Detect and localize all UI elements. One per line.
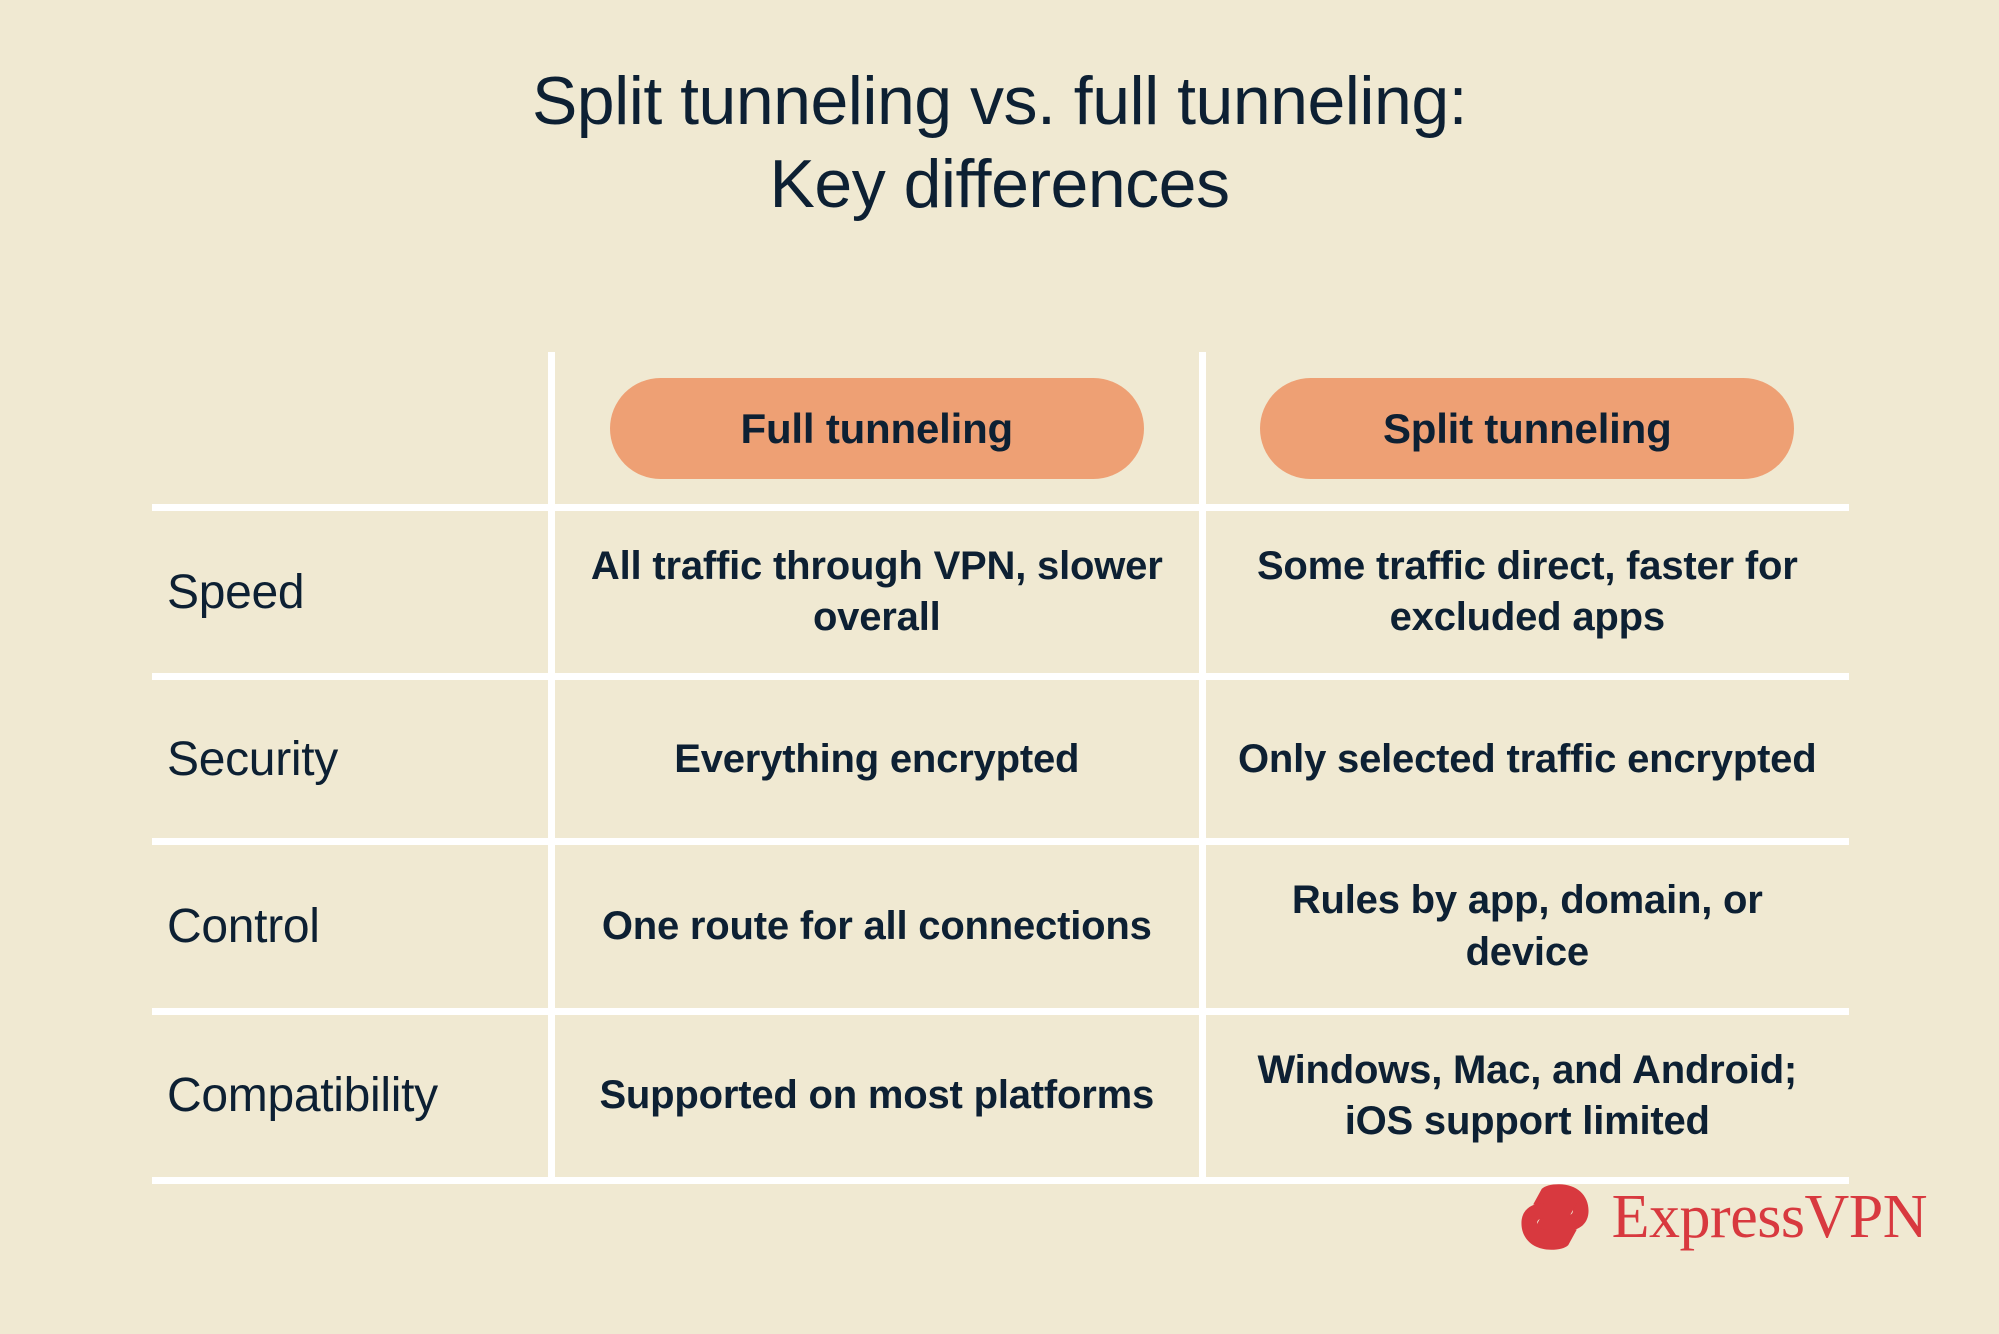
cell-text-speed-full: All traffic through VPN, slower overall: [577, 541, 1177, 643]
cell-text-control-full: One route for all connections: [602, 901, 1152, 952]
cell-control-split: Rules by app, domain, or device: [1199, 845, 1850, 1007]
header-cell-full-tunneling: Full tunneling: [548, 352, 1199, 504]
row-label-compatibility: Compatibility: [167, 1068, 438, 1123]
table-row-speed: Speed All traffic through VPN, slower ov…: [152, 504, 1849, 673]
expressvpn-e-mark-icon: [1516, 1178, 1594, 1256]
row-label-cell-compatibility: Compatibility: [152, 1015, 548, 1177]
row-label-speed: Speed: [167, 565, 304, 620]
row-label-security: Security: [167, 732, 338, 787]
comparison-table: Full tunneling Split tunneling Speed All…: [152, 352, 1849, 1184]
page-title: Split tunneling vs. full tunneling: Key …: [0, 60, 1999, 226]
cell-text-security-full: Everything encrypted: [674, 734, 1079, 785]
table-row-compatibility: Compatibility Supported on most platform…: [152, 1008, 1849, 1184]
title-line-1: Split tunneling vs. full tunneling:: [0, 60, 1999, 143]
cell-security-split: Only selected traffic encrypted: [1199, 680, 1850, 838]
cell-text-security-split: Only selected traffic encrypted: [1238, 734, 1816, 785]
cell-text-compatibility-full: Supported on most platforms: [599, 1070, 1154, 1121]
row-label-cell-control: Control: [152, 845, 548, 1007]
expressvpn-wordmark: ExpressVPN: [1612, 1186, 1927, 1248]
pill-full-tunneling: Full tunneling: [610, 378, 1144, 479]
infographic-canvas: Split tunneling vs. full tunneling: Key …: [0, 0, 1999, 1334]
row-label-cell-speed: Speed: [152, 511, 548, 673]
row-label-control: Control: [167, 899, 320, 954]
cell-text-compatibility-split: Windows, Mac, and Android; iOS support l…: [1228, 1045, 1828, 1147]
title-line-2: Key differences: [0, 143, 1999, 226]
cell-speed-full: All traffic through VPN, slower overall: [548, 511, 1199, 673]
table-row-security: Security Everything encrypted Only selec…: [152, 673, 1849, 838]
expressvpn-logo: ExpressVPN: [1516, 1178, 1927, 1256]
table-header-row: Full tunneling Split tunneling: [152, 352, 1849, 504]
cell-compatibility-full: Supported on most platforms: [548, 1015, 1199, 1177]
cell-text-speed-split: Some traffic direct, faster for excluded…: [1228, 541, 1828, 643]
header-cell-split-tunneling: Split tunneling: [1199, 352, 1850, 504]
row-label-cell-security: Security: [152, 680, 548, 838]
cell-text-control-split: Rules by app, domain, or device: [1228, 875, 1828, 977]
cell-control-full: One route for all connections: [548, 845, 1199, 1007]
cell-security-full: Everything encrypted: [548, 680, 1199, 838]
cell-compatibility-split: Windows, Mac, and Android; iOS support l…: [1199, 1015, 1850, 1177]
cell-speed-split: Some traffic direct, faster for excluded…: [1199, 511, 1850, 673]
pill-split-tunneling: Split tunneling: [1260, 378, 1794, 479]
table-row-control: Control One route for all connections Ru…: [152, 838, 1849, 1007]
